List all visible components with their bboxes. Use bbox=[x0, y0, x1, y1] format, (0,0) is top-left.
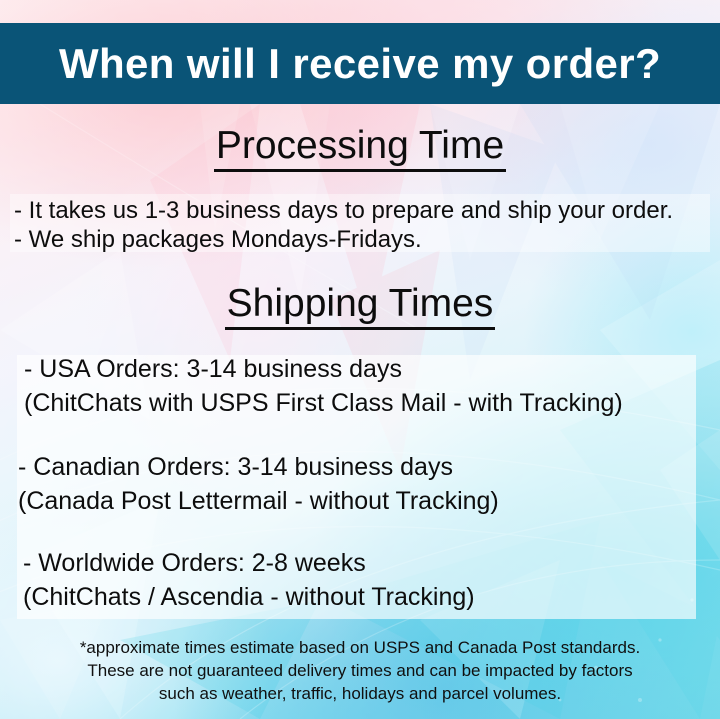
footnote-line-3: such as weather, traffic, holidays and p… bbox=[0, 682, 720, 705]
processing-time-body: - It takes us 1-3 business days to prepa… bbox=[14, 196, 714, 254]
shipping-entry-worldwide: - Worldwide Orders: 2-8 weeks (ChitChats… bbox=[23, 546, 695, 614]
shipping-entry-worldwide-sub: (ChitChats / Ascendia - without Tracking… bbox=[23, 580, 695, 614]
footnote-disclaimer: *approximate times estimate based on USP… bbox=[0, 636, 720, 705]
header-banner: When will I receive my order? bbox=[0, 23, 720, 104]
shipping-entry-usa-sub: (ChitChats with USPS First Class Mail - … bbox=[24, 386, 696, 420]
shipping-entry-canada-main: - Canadian Orders: 3-14 business days bbox=[18, 450, 690, 484]
section-heading-shipping-times-label: Shipping Times bbox=[225, 284, 496, 330]
shipping-entry-usa: - USA Orders: 3-14 business days (ChitCh… bbox=[24, 352, 696, 420]
section-heading-shipping-times: Shipping Times bbox=[0, 284, 720, 330]
shipping-entry-worldwide-main: - Worldwide Orders: 2-8 weeks bbox=[23, 546, 695, 580]
shipping-info-poster: When will I receive my order? Processing… bbox=[0, 0, 720, 719]
footnote-line-1: *approximate times estimate based on USP… bbox=[0, 636, 720, 659]
shipping-entry-canada-sub: (Canada Post Lettermail - without Tracki… bbox=[18, 484, 690, 518]
section-heading-processing-time: Processing Time bbox=[0, 126, 720, 172]
processing-time-line-2: - We ship packages Mondays-Fridays. bbox=[14, 225, 714, 254]
section-heading-processing-time-label: Processing Time bbox=[214, 126, 506, 172]
processing-time-line-1: - It takes us 1-3 business days to prepa… bbox=[14, 196, 714, 225]
page-title: When will I receive my order? bbox=[59, 43, 661, 85]
shipping-entry-usa-main: - USA Orders: 3-14 business days bbox=[24, 352, 696, 386]
footnote-line-2: These are not guaranteed delivery times … bbox=[0, 659, 720, 682]
shipping-entry-canada: - Canadian Orders: 3-14 business days (C… bbox=[18, 450, 690, 518]
